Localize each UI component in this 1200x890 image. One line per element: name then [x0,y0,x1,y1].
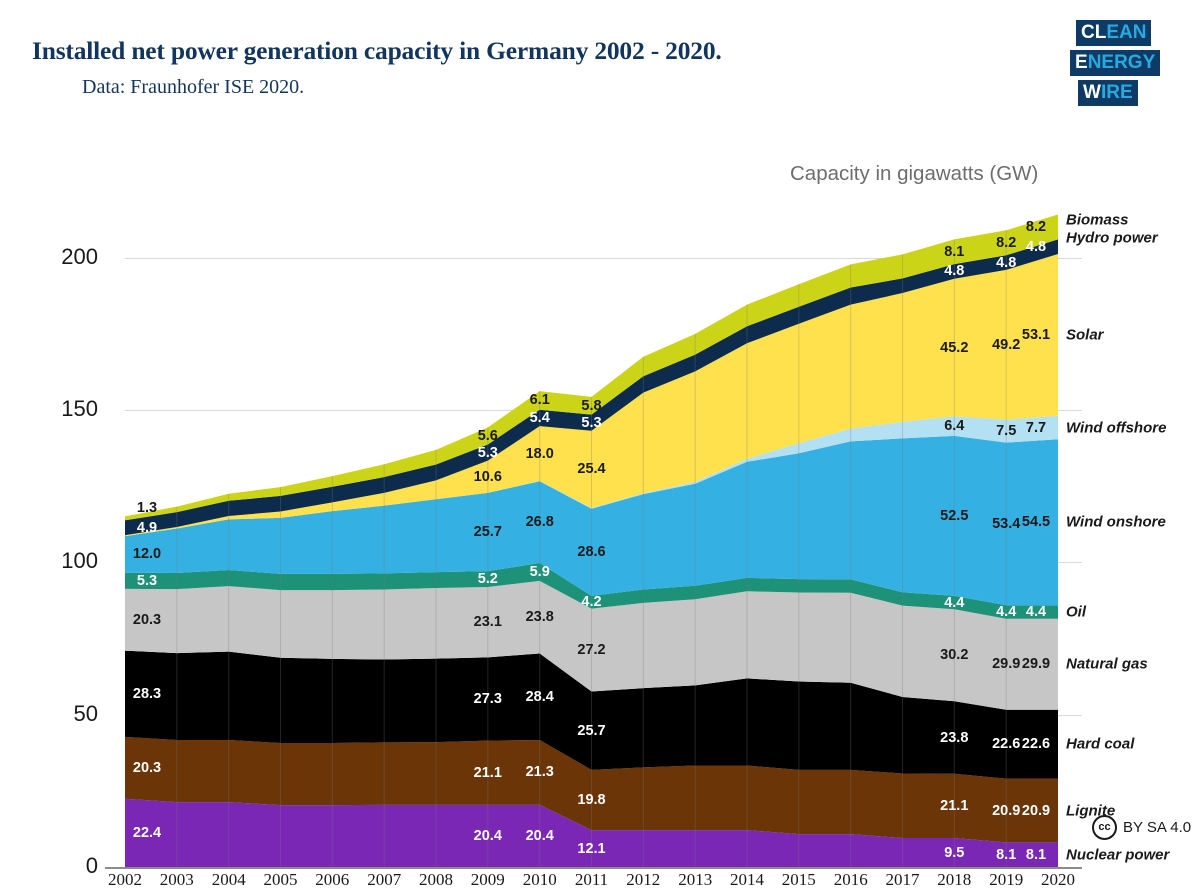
value-label-natural-gas-2009: 23.1 [474,614,502,630]
value-label-hydro-power-2002: 4.9 [137,520,157,536]
axis-title: Capacity in gigawatts (GW) [790,162,1038,186]
value-label-nuclear-power-2019: 8.1 [996,847,1016,863]
value-label-hard-coal-2019: 22.6 [992,736,1020,752]
logo-line-clean: CLEAN [1076,20,1151,46]
value-label-hard-coal-2009: 27.3 [474,691,502,707]
value-label-solar-2010: 18.0 [526,446,554,462]
legend-label-hydro-power: Hydro power [1066,230,1158,247]
value-label-natural-gas-2018: 30.2 [940,647,968,663]
value-label-biomass-2020: 8.2 [1026,219,1046,235]
legend-label-natural-gas: Natural gas [1066,656,1148,673]
clean-energy-wire-logo[interactable]: CLEAN ENERGY WIRE [1070,20,1170,112]
value-label-lignite-2020: 20.9 [1022,803,1050,819]
value-label-hard-coal-2011: 25.7 [577,723,605,739]
value-label-biomass-2009: 5.6 [478,428,498,444]
value-label-hydro-power-2010: 5.4 [530,410,550,426]
value-label-biomass-2010: 6.1 [530,392,550,408]
value-label-oil-2020: 4.4 [1026,604,1046,620]
value-label-natural-gas-2019: 29.9 [992,656,1020,672]
value-label-nuclear-power-2002: 22.4 [133,825,161,841]
y-tick-200: 200 [28,244,98,270]
value-label-hydro-power-2018: 4.8 [944,263,964,279]
y-tick-50: 50 [28,701,98,727]
value-label-nuclear-power-2009: 20.4 [474,828,502,844]
logo-line-energy: ENERGY [1070,50,1160,76]
value-label-natural-gas-2020: 29.9 [1022,656,1050,672]
value-label-hard-coal-2020: 22.6 [1022,736,1050,752]
value-label-wind-onshore-2011: 28.6 [577,544,605,560]
value-label-lignite-2010: 21.3 [526,764,554,780]
value-label-wind-onshore-2020: 54.5 [1022,514,1050,530]
value-label-natural-gas-2011: 27.2 [577,642,605,658]
value-label-hydro-power-2009: 5.3 [478,445,498,461]
value-label-solar-2011: 25.4 [577,461,605,477]
legend-label-nuclear-power: Nuclear power [1066,846,1169,863]
value-label-oil-2019: 4.4 [996,604,1016,620]
legend-label-wind-offshore: Wind offshore [1066,419,1166,436]
value-label-wind-onshore-2019: 53.4 [992,516,1020,532]
legend-label-solar: Solar [1066,326,1104,343]
license-badge: cc BY SA 4.0 [1092,815,1191,840]
gridline-0 [105,867,1082,869]
value-label-biomass-2019: 8.2 [996,235,1016,251]
value-label-nuclear-power-2020: 8.1 [1026,847,1046,863]
y-tick-150: 150 [28,396,98,422]
value-label-oil-2002: 5.3 [137,573,157,589]
legend-label-wind-onshore: Wind onshore [1066,514,1166,531]
value-label-oil-2009: 5.2 [478,571,498,587]
legend-label-biomass: Biomass [1066,212,1129,229]
value-label-hard-coal-2010: 28.4 [526,689,554,705]
value-label-natural-gas-2002: 20.3 [133,612,161,628]
value-label-hydro-power-2019: 4.8 [996,255,1016,271]
value-label-lignite-2011: 19.8 [577,792,605,808]
value-label-biomass-2011: 5.8 [581,398,601,414]
logo-energy-white: E [1075,52,1088,73]
header-panel: Installed net power generation capacity … [0,0,1175,122]
value-label-wind-offshore-2020: 7.7 [1026,420,1046,436]
logo-line-wire: WIRE [1078,80,1138,106]
value-label-lignite-2002: 20.3 [133,760,161,776]
logo-wire-white: W [1083,82,1101,103]
value-label-hydro-power-2011: 5.3 [581,415,601,431]
value-label-solar-2018: 45.2 [940,340,968,356]
value-label-wind-onshore-2018: 52.5 [940,508,968,524]
value-label-wind-offshore-2019: 7.5 [996,423,1016,439]
value-label-natural-gas-2010: 23.8 [526,609,554,625]
value-label-wind-onshore-2009: 25.7 [474,524,502,540]
value-label-biomass-2002: 1.3 [137,500,157,516]
value-label-hydro-power-2020: 4.8 [1026,239,1046,255]
y-tick-0: 0 [28,853,98,879]
value-label-nuclear-power-2010: 20.4 [526,828,554,844]
value-label-solar-2009: 10.6 [474,469,502,485]
value-label-biomass-2018: 8.1 [944,244,964,260]
value-label-solar-2019: 49.2 [992,337,1020,353]
value-label-lignite-2018: 21.1 [940,798,968,814]
value-label-lignite-2009: 21.1 [474,765,502,781]
legend-label-hard-coal: Hard coal [1066,736,1134,753]
logo-energy-accent: NERGY [1088,52,1156,73]
value-label-solar-2020: 53.1 [1022,327,1050,343]
stacked-area-svg [125,212,1058,867]
data-source-subtitle: Data: Fraunhofer ISE 2020. [82,76,304,99]
creative-commons-icon: cc [1092,815,1117,840]
chart-area: Capacity in gigawatts (GW) 050100150200 … [0,122,1200,848]
value-label-wind-onshore-2010: 26.8 [526,514,554,530]
value-label-hard-coal-2002: 28.3 [133,686,161,702]
logo-wire-accent: IRE [1101,82,1133,103]
value-label-oil-2018: 4.4 [944,595,964,611]
logo-clean-accent: EAN [1106,22,1146,43]
value-label-nuclear-power-2018: 9.5 [944,845,964,861]
x-tick-2020: 2020 [1028,870,1088,890]
stacked-area-plot [125,212,1058,867]
value-label-hard-coal-2018: 23.8 [940,730,968,746]
value-label-oil-2011: 4.2 [581,594,601,610]
legend-label-oil: Oil [1066,604,1086,621]
value-label-wind-offshore-2018: 6.4 [944,418,964,434]
value-label-wind-onshore-2002: 12.0 [133,546,161,562]
value-label-oil-2010: 5.9 [530,564,550,580]
page-title: Installed net power generation capacity … [32,36,722,66]
logo-clean-white: CL [1081,22,1106,43]
y-tick-100: 100 [28,548,98,574]
value-label-lignite-2019: 20.9 [992,803,1020,819]
value-label-nuclear-power-2011: 12.1 [577,841,605,857]
license-text: BY SA 4.0 [1123,819,1191,836]
